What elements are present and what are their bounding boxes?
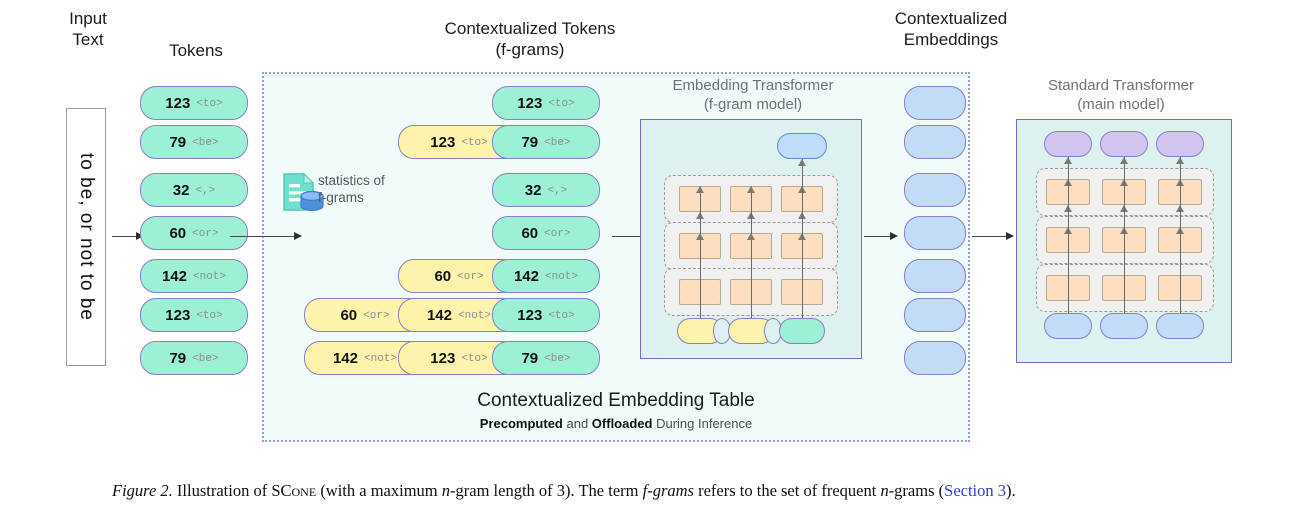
token-text: <not>: [193, 271, 226, 283]
transformer-input-pill: [677, 318, 723, 344]
token-id: 32: [525, 182, 542, 199]
token-id: 60: [521, 225, 538, 242]
statistics-label: statistics of f-grams: [318, 172, 414, 206]
section-link[interactable]: Section 3: [944, 481, 1006, 500]
token-text: <be>: [544, 137, 570, 149]
token-text: <or>: [192, 228, 218, 240]
token-id: 60: [434, 268, 451, 285]
token-text: <or>: [457, 271, 483, 283]
token-id: 79: [521, 134, 538, 151]
standard-transformer-title: Standard Transformer (main model): [1010, 76, 1232, 114]
token-text: <or>: [544, 228, 570, 240]
token-id: 123: [430, 134, 455, 151]
arrow-tokens-to-stats-head: [294, 232, 302, 240]
embedding-table-subtitle: Precomputed and Offloaded During Inferen…: [262, 414, 970, 434]
token-id: 123: [517, 307, 542, 324]
transformer-connector-arrow: [798, 159, 806, 166]
token-id: 142: [514, 268, 539, 285]
fgram-focus-pill: 60<or>: [492, 216, 600, 250]
token-text: <or>: [363, 310, 389, 322]
transformer-connector-arrow: [1176, 157, 1184, 164]
embedding-pill: [904, 259, 966, 293]
model-name: SCone: [271, 481, 316, 500]
statistics-group: statistics of f-grams: [282, 172, 412, 218]
embedding-transformer-title: Embedding Transformer (f-gram model): [642, 76, 864, 114]
transformer-connector: [1124, 157, 1125, 275]
transformer-connector: [751, 233, 752, 305]
contextualized-embedding-table: [262, 72, 970, 442]
token-text: <not>: [458, 310, 491, 322]
token-text: <be>: [192, 137, 218, 149]
embedding-pill: [904, 173, 966, 207]
token-text: <to>: [461, 353, 487, 365]
token-id: 79: [521, 350, 538, 367]
input-text-box: to be, or not to be: [66, 108, 106, 366]
header-tokens: Tokens: [140, 40, 252, 61]
transformer-output-pill: [1156, 131, 1204, 157]
embedding-pill: [904, 341, 966, 375]
token-id: 142: [333, 350, 358, 367]
transformer-input-pill: [1100, 313, 1148, 339]
transformer-input-pill: [1044, 313, 1092, 339]
embedding-table-title: Contextualized Embedding Table: [262, 388, 970, 414]
token-text: <be>: [544, 353, 570, 365]
transformer-input-pill: [779, 318, 825, 344]
fgram-focus-pill: 142<not>: [492, 259, 600, 293]
header-input-text: Input Text: [46, 8, 130, 50]
transformer-connector-arrow: [696, 233, 704, 240]
transformer-connector: [700, 233, 701, 305]
fgram-focus-pill: 32<,>: [492, 173, 600, 207]
arrow-embeddings-to-main-head: [1006, 232, 1014, 240]
token-pill: 60<or>: [140, 216, 248, 250]
token-text: <,>: [547, 185, 567, 197]
token-id: 60: [169, 225, 186, 242]
token-id: 32: [173, 182, 190, 199]
token-id: 142: [162, 268, 187, 285]
token-id: 60: [340, 307, 357, 324]
token-pill: 123<to>: [140, 298, 248, 332]
token-pill: 142<not>: [140, 259, 248, 293]
arrow-transformer-to-embeddings-head: [890, 232, 898, 240]
transformer-output-pill: [1100, 131, 1148, 157]
token-id: 123: [517, 95, 542, 112]
token-text: <not>: [545, 271, 578, 283]
transformer-output-pill: [1044, 131, 1092, 157]
token-text: <not>: [364, 353, 397, 365]
transformer-connector-arrow: [1064, 157, 1072, 164]
embedding-pill: [904, 86, 966, 120]
embedding-pill: [904, 216, 966, 250]
input-text-value: to be, or not to be: [75, 153, 97, 321]
token-id: 123: [165, 95, 190, 112]
token-pill: 79<be>: [140, 125, 248, 159]
token-id: 79: [169, 350, 186, 367]
token-id: 79: [169, 134, 186, 151]
figure-scone-illustration: Input Text Tokens Contextualized Tokens …: [0, 0, 1292, 529]
transformer-connector-arrow: [696, 186, 704, 193]
fgram-focus-pill: 79<be>: [492, 125, 600, 159]
transformer-connector: [1180, 157, 1181, 275]
transformer-connector-arrow: [1120, 157, 1128, 164]
arrow-tokens-to-stats-line: [230, 236, 296, 237]
token-id: 142: [427, 307, 452, 324]
token-text: <to>: [548, 98, 574, 110]
token-text: <to>: [196, 98, 222, 110]
token-id: 123: [165, 307, 190, 324]
arrow-embeddings-to-main-line: [972, 236, 1008, 237]
token-pill: 123<to>: [140, 86, 248, 120]
header-contextualized-tokens: Contextualized Tokens (f-grams): [386, 18, 674, 60]
transformer-input-pill: [1156, 313, 1204, 339]
token-id: 123: [430, 350, 455, 367]
token-pill: 32<,>: [140, 173, 248, 207]
transformer-output-pill: [777, 133, 827, 159]
transformer-connector: [802, 159, 803, 279]
token-text: <to>: [461, 137, 487, 149]
header-contextualized-embeddings: Contextualized Embeddings: [856, 8, 1046, 50]
embedding-table-caption: Contextualized Embedding Table Precomput…: [262, 388, 970, 434]
token-text: <,>: [195, 185, 215, 197]
token-text: <be>: [192, 353, 218, 365]
fgram-focus-pill: 123<to>: [492, 86, 600, 120]
transformer-connector: [1068, 157, 1069, 275]
token-text: <to>: [196, 310, 222, 322]
embedding-pill: [904, 125, 966, 159]
fgram-focus-pill: 79<be>: [492, 341, 600, 375]
transformer-connector-arrow: [747, 233, 755, 240]
figure-caption: Figure 2. Illustration of SCone (with a …: [112, 480, 1240, 502]
token-pill: 79<be>: [140, 341, 248, 375]
arrow-input-to-tokens-line: [112, 236, 138, 237]
fgram-focus-pill: 123<to>: [492, 298, 600, 332]
embedding-pill: [904, 298, 966, 332]
token-text: <to>: [548, 310, 574, 322]
transformer-connector-arrow: [747, 186, 755, 193]
figure-number: Figure 2.: [112, 481, 173, 500]
transformer-input-pill: [728, 318, 774, 344]
